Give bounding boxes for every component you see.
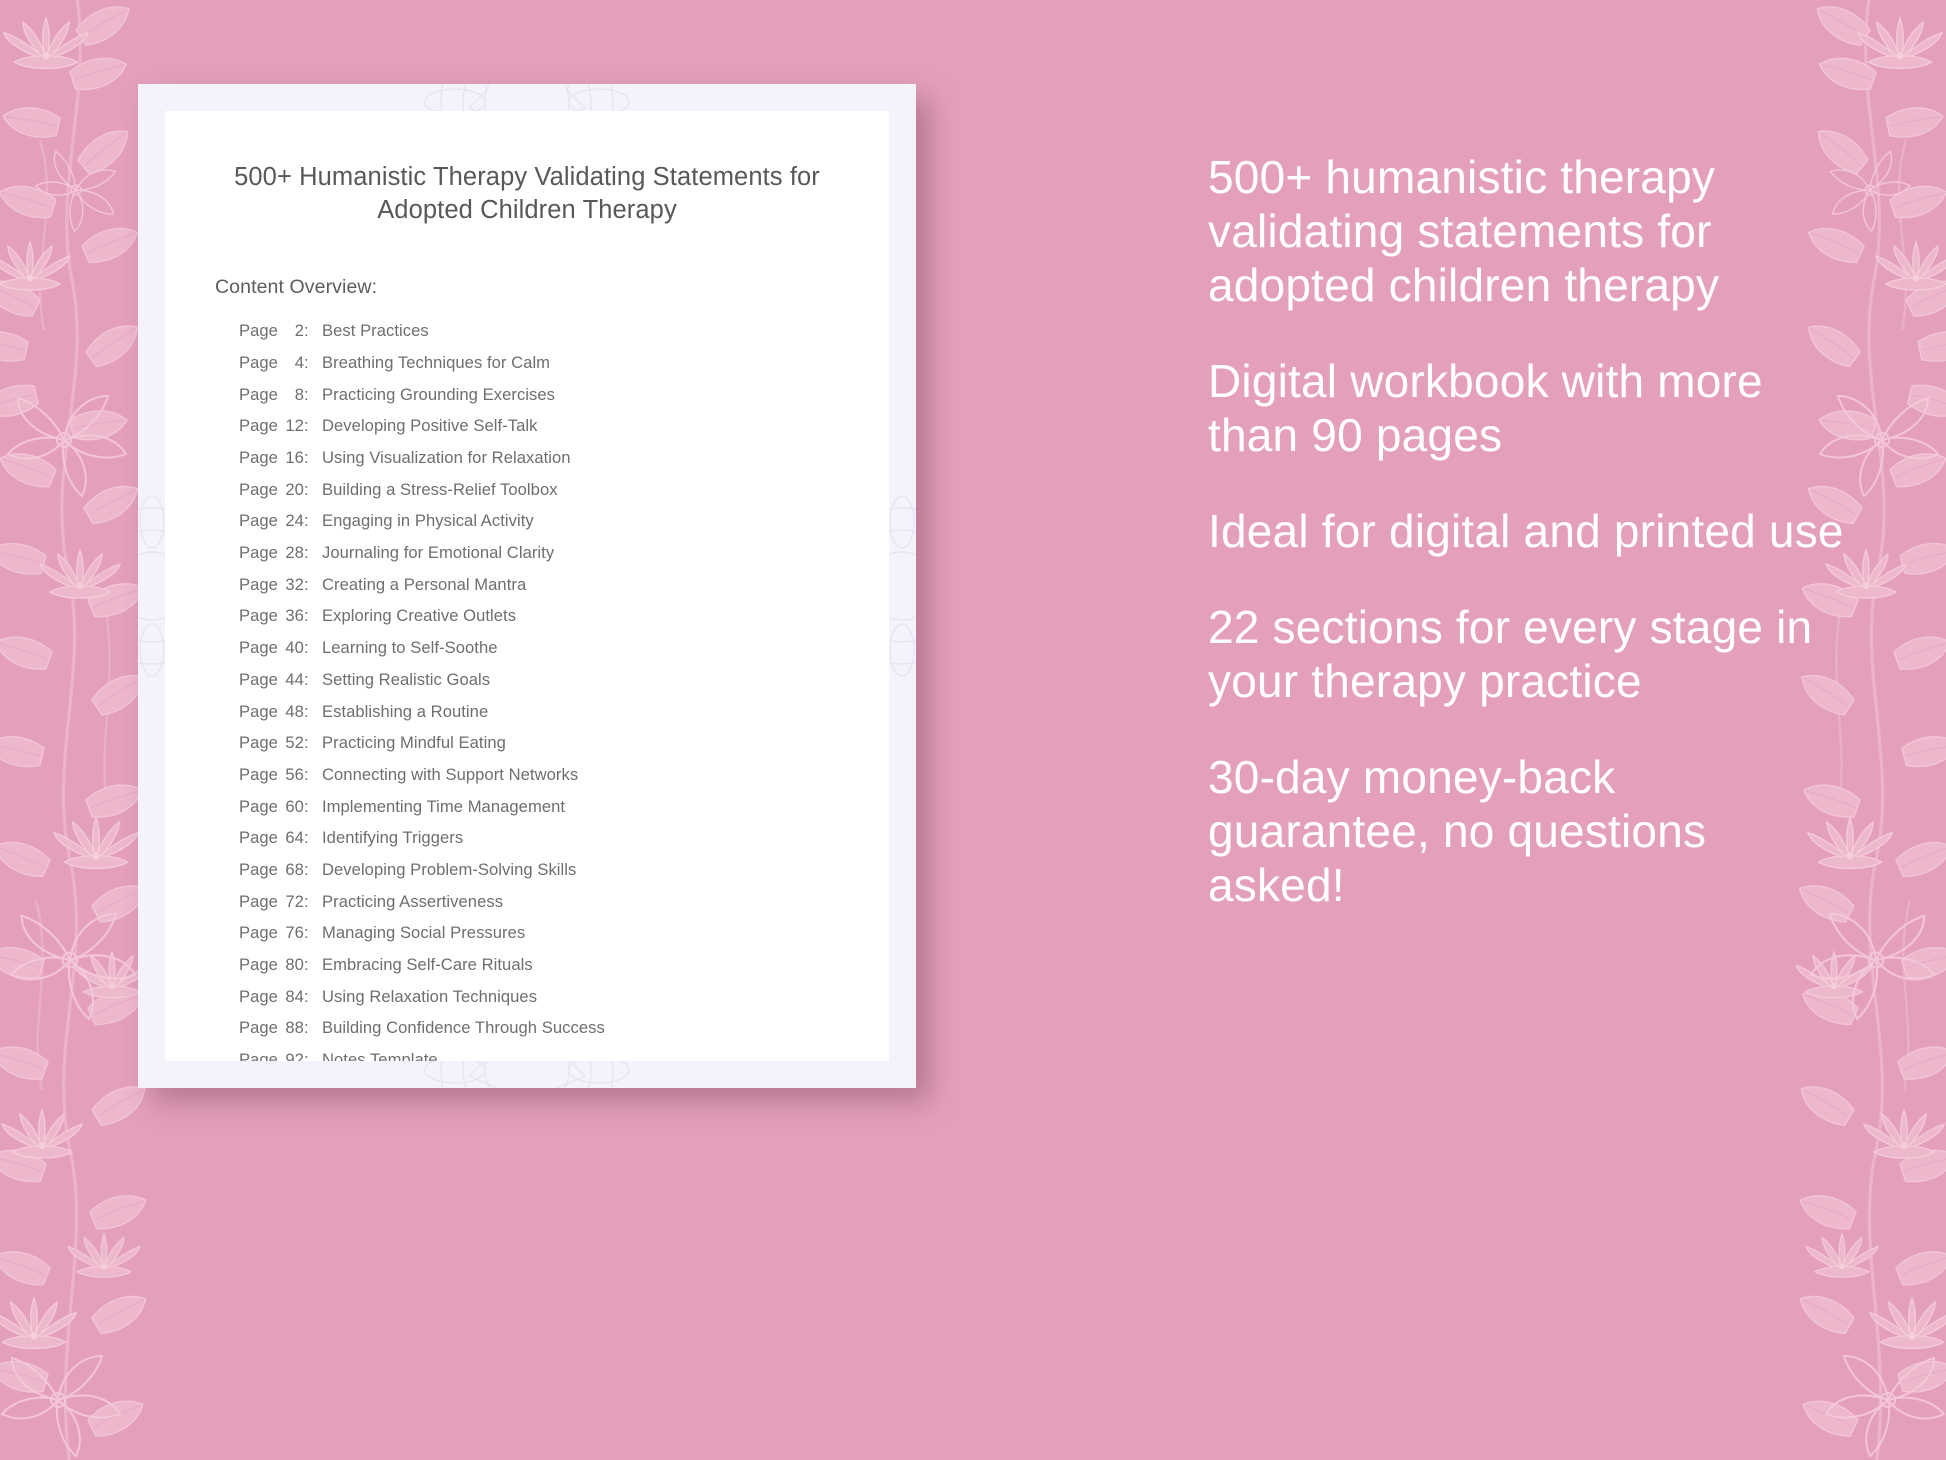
- marketing-bullet: Ideal for digital and printed use: [1208, 504, 1848, 558]
- table-of-contents-item: Page36:Exploring Creative Outlets: [239, 606, 889, 638]
- toc-section-title: Breathing Techniques for Calm: [313, 353, 550, 373]
- toc-separator: :: [304, 353, 309, 372]
- toc-page-word: Page: [239, 860, 278, 879]
- toc-page-word: Page: [239, 923, 278, 942]
- toc-page-word: Page: [239, 797, 278, 816]
- toc-page-word: Page: [239, 480, 278, 499]
- toc-page-value: 4: [278, 353, 304, 373]
- toc-section-title: Notes Template: [313, 1050, 438, 1061]
- table-of-contents-item: Page24:Engaging in Physical Activity: [239, 511, 889, 543]
- toc-page-number: Page28:: [239, 543, 313, 563]
- toc-separator: :: [304, 543, 309, 562]
- toc-page-value: 52: [278, 733, 304, 753]
- toc-section-title: Practicing Mindful Eating: [313, 733, 506, 753]
- table-of-contents-item: Page2:Best Practices: [239, 321, 889, 353]
- marketing-copy: 500+ humanistic therapy validating state…: [1208, 150, 1848, 913]
- toc-page-value: 16: [278, 448, 304, 468]
- toc-separator: :: [304, 733, 309, 752]
- promo-graphic: 500+ Humanistic Therapy Validating State…: [0, 0, 1946, 1460]
- toc-page-value: 32: [278, 575, 304, 595]
- table-of-contents-item: Page8:Practicing Grounding Exercises: [239, 385, 889, 417]
- table-of-contents-item: Page48:Establishing a Routine: [239, 702, 889, 734]
- toc-separator: :: [304, 416, 309, 435]
- toc-separator: :: [304, 638, 309, 657]
- table-of-contents-item: Page44:Setting Realistic Goals: [239, 670, 889, 702]
- table-of-contents-item: Page76:Managing Social Pressures: [239, 923, 889, 955]
- table-of-contents-item: Page92:Notes Template: [239, 1050, 889, 1061]
- toc-page-number: Page64:: [239, 828, 313, 848]
- toc-page-word: Page: [239, 416, 278, 435]
- toc-separator: :: [304, 670, 309, 689]
- table-of-contents-item: Page64:Identifying Triggers: [239, 828, 889, 860]
- toc-page-value: 80: [278, 955, 304, 975]
- toc-page-word: Page: [239, 448, 278, 467]
- toc-page-value: 60: [278, 797, 304, 817]
- toc-page-number: Page40:: [239, 638, 313, 658]
- toc-page-word: Page: [239, 638, 278, 657]
- toc-page-word: Page: [239, 575, 278, 594]
- toc-page-word: Page: [239, 1018, 278, 1037]
- table-of-contents-item: Page20:Building a Stress-Relief Toolbox: [239, 480, 889, 512]
- toc-separator: :: [304, 511, 309, 530]
- table-of-contents-item: Page12:Developing Positive Self-Talk: [239, 416, 889, 448]
- toc-page-number: Page80:: [239, 955, 313, 975]
- toc-page-value: 64: [278, 828, 304, 848]
- toc-page-word: Page: [239, 670, 278, 689]
- toc-section-title: Practicing Assertiveness: [313, 892, 503, 912]
- workbook-page: 500+ Humanistic Therapy Validating State…: [165, 111, 889, 1061]
- toc-page-value: 72: [278, 892, 304, 912]
- marketing-bullet: 22 sections for every stage in your ther…: [1208, 600, 1848, 708]
- toc-page-value: 92: [278, 1050, 304, 1061]
- toc-separator: :: [304, 1050, 309, 1061]
- toc-page-number: Page32:: [239, 575, 313, 595]
- table-of-contents-item: Page40:Learning to Self-Soothe: [239, 638, 889, 670]
- toc-separator: :: [304, 797, 309, 816]
- toc-page-word: Page: [239, 511, 278, 530]
- toc-page-number: Page44:: [239, 670, 313, 690]
- toc-page-word: Page: [239, 955, 278, 974]
- toc-page-value: 48: [278, 702, 304, 722]
- toc-section-title: Engaging in Physical Activity: [313, 511, 534, 531]
- table-of-contents-item: Page88:Building Confidence Through Succe…: [239, 1018, 889, 1050]
- toc-page-word: Page: [239, 702, 278, 721]
- toc-page-word: Page: [239, 892, 278, 911]
- table-of-contents-item: Page52:Practicing Mindful Eating: [239, 733, 889, 765]
- toc-page-number: Page56:: [239, 765, 313, 785]
- toc-page-word: Page: [239, 733, 278, 752]
- toc-section-title: Using Relaxation Techniques: [313, 987, 537, 1007]
- floral-border-left-decoration: [0, 0, 150, 1460]
- table-of-contents-item: Page72:Practicing Assertiveness: [239, 892, 889, 924]
- toc-separator: :: [304, 987, 309, 1006]
- toc-page-value: 76: [278, 923, 304, 943]
- toc-section-title: Building Confidence Through Success: [313, 1018, 605, 1038]
- page-title: 500+ Humanistic Therapy Validating State…: [165, 111, 889, 226]
- toc-page-value: 84: [278, 987, 304, 1007]
- toc-separator: :: [304, 923, 309, 942]
- toc-section-title: Setting Realistic Goals: [313, 670, 490, 690]
- toc-page-value: 24: [278, 511, 304, 531]
- table-of-contents-item: Page80:Embracing Self-Care Rituals: [239, 955, 889, 987]
- toc-page-number: Page52:: [239, 733, 313, 753]
- toc-page-value: 20: [278, 480, 304, 500]
- toc-page-number: Page76:: [239, 923, 313, 943]
- toc-section-title: Connecting with Support Networks: [313, 765, 578, 785]
- toc-page-value: 68: [278, 860, 304, 880]
- toc-page-number: Page8:: [239, 385, 313, 405]
- toc-separator: :: [304, 606, 309, 625]
- toc-page-value: 56: [278, 765, 304, 785]
- toc-separator: :: [304, 702, 309, 721]
- table-of-contents-item: Page4:Breathing Techniques for Calm: [239, 353, 889, 385]
- toc-section-title: Developing Problem-Solving Skills: [313, 860, 576, 880]
- toc-page-word: Page: [239, 543, 278, 562]
- toc-page-number: Page16:: [239, 448, 313, 468]
- toc-section-title: Exploring Creative Outlets: [313, 606, 516, 626]
- toc-section-title: Journaling for Emotional Clarity: [313, 543, 554, 563]
- toc-section-title: Identifying Triggers: [313, 828, 463, 848]
- toc-section-title: Establishing a Routine: [313, 702, 488, 722]
- toc-page-value: 36: [278, 606, 304, 626]
- toc-page-value: 8: [278, 385, 304, 405]
- toc-page-value: 12: [278, 416, 304, 436]
- toc-page-number: Page48:: [239, 702, 313, 722]
- toc-separator: :: [304, 575, 309, 594]
- floral-vine-icon: [0, 0, 150, 1460]
- toc-page-value: 2: [278, 321, 304, 341]
- toc-separator: :: [304, 892, 309, 911]
- toc-section-title: Learning to Self-Soothe: [313, 638, 498, 658]
- toc-page-number: Page20:: [239, 480, 313, 500]
- workbook-preview-card: 500+ Humanistic Therapy Validating State…: [138, 84, 916, 1088]
- toc-section-title: Implementing Time Management: [313, 797, 565, 817]
- toc-section-title: Embracing Self-Care Rituals: [313, 955, 533, 975]
- toc-page-number: Page60:: [239, 797, 313, 817]
- toc-section-title: Developing Positive Self-Talk: [313, 416, 537, 436]
- marketing-bullet: Digital workbook with more than 90 pages: [1208, 354, 1848, 462]
- toc-separator: :: [304, 480, 309, 499]
- toc-page-word: Page: [239, 765, 278, 784]
- toc-page-word: Page: [239, 385, 278, 404]
- toc-separator: :: [304, 321, 309, 340]
- table-of-contents-item: Page32:Creating a Personal Mantra: [239, 575, 889, 607]
- toc-page-value: 88: [278, 1018, 304, 1038]
- toc-page-number: Page12:: [239, 416, 313, 436]
- toc-page-word: Page: [239, 987, 278, 1006]
- toc-section-title: Building a Stress-Relief Toolbox: [313, 480, 558, 500]
- toc-separator: :: [304, 1018, 309, 1037]
- toc-page-number: Page88:: [239, 1018, 313, 1038]
- toc-page-word: Page: [239, 828, 278, 847]
- toc-section-title: Managing Social Pressures: [313, 923, 525, 943]
- toc-separator: :: [304, 955, 309, 974]
- toc-page-word: Page: [239, 1050, 278, 1061]
- toc-page-value: 44: [278, 670, 304, 690]
- toc-page-number: Page84:: [239, 987, 313, 1007]
- toc-separator: :: [304, 765, 309, 784]
- toc-page-value: 40: [278, 638, 304, 658]
- content-overview-label: Content Overview:: [165, 226, 889, 299]
- toc-page-number: Page72:: [239, 892, 313, 912]
- table-of-contents-list: Page2:Best PracticesPage4:Breathing Tech…: [165, 299, 889, 1061]
- table-of-contents-item: Page68:Developing Problem-Solving Skills: [239, 860, 889, 892]
- table-of-contents-item: Page56:Connecting with Support Networks: [239, 765, 889, 797]
- toc-section-title: Practicing Grounding Exercises: [313, 385, 555, 405]
- toc-page-number: Page92:: [239, 1050, 313, 1061]
- toc-separator: :: [304, 860, 309, 879]
- toc-separator: :: [304, 448, 309, 467]
- toc-page-number: Page2:: [239, 321, 313, 341]
- toc-section-title: Best Practices: [313, 321, 429, 341]
- table-of-contents-item: Page60:Implementing Time Management: [239, 797, 889, 829]
- toc-separator: :: [304, 385, 309, 404]
- toc-separator: :: [304, 828, 309, 847]
- table-of-contents-item: Page84:Using Relaxation Techniques: [239, 987, 889, 1019]
- table-of-contents-item: Page16:Using Visualization for Relaxatio…: [239, 448, 889, 480]
- marketing-bullet: 30-day money-back guarantee, no question…: [1208, 750, 1848, 912]
- table-of-contents-item: Page28:Journaling for Emotional Clarity: [239, 543, 889, 575]
- toc-page-word: Page: [239, 321, 278, 340]
- toc-page-number: Page36:: [239, 606, 313, 626]
- toc-page-number: Page68:: [239, 860, 313, 880]
- toc-section-title: Creating a Personal Mantra: [313, 575, 526, 595]
- toc-page-number: Page4:: [239, 353, 313, 373]
- toc-section-title: Using Visualization for Relaxation: [313, 448, 571, 468]
- marketing-bullet: 500+ humanistic therapy validating state…: [1208, 150, 1848, 312]
- toc-page-word: Page: [239, 353, 278, 372]
- toc-page-value: 28: [278, 543, 304, 563]
- toc-page-word: Page: [239, 606, 278, 625]
- toc-page-number: Page24:: [239, 511, 313, 531]
